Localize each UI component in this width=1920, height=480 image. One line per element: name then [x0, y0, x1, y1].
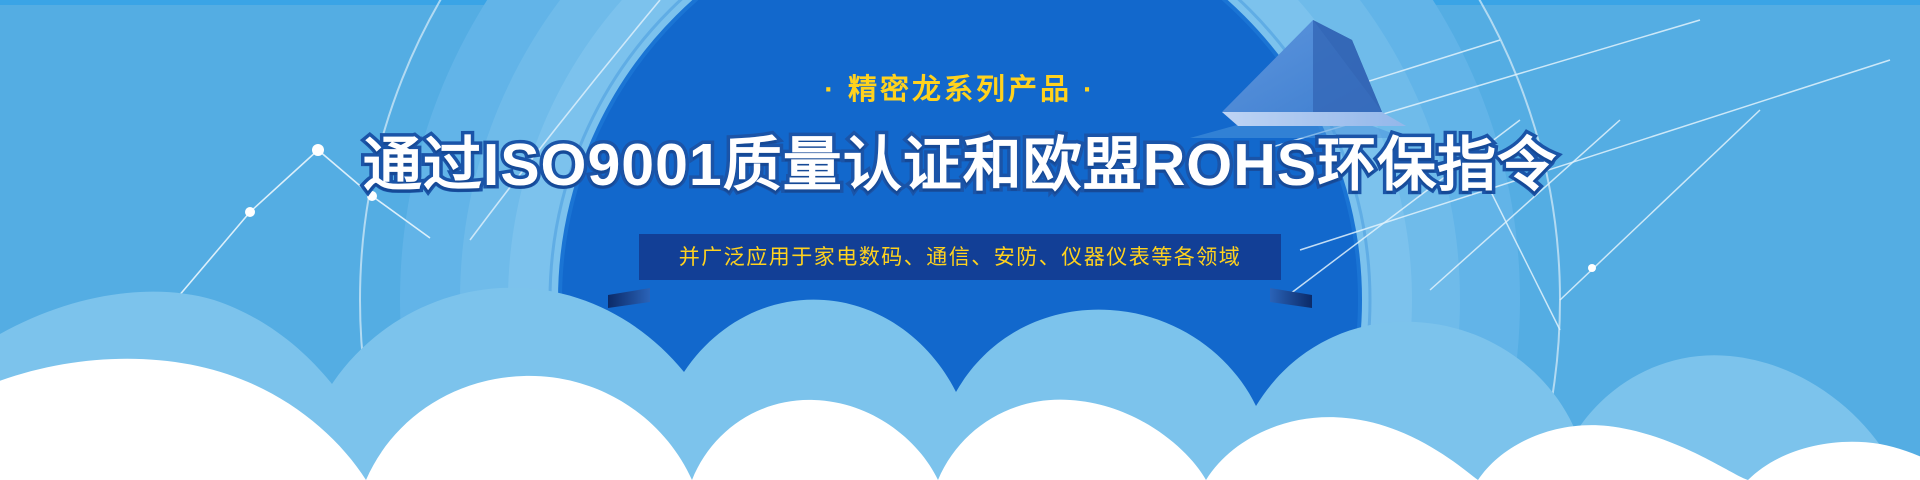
- promo-banner: · 精密龙系列产品 · 通过ISO9001质量认证和欧盟ROHS环保指令 并广泛…: [0, 0, 1920, 480]
- background-graphics: [0, 0, 1920, 480]
